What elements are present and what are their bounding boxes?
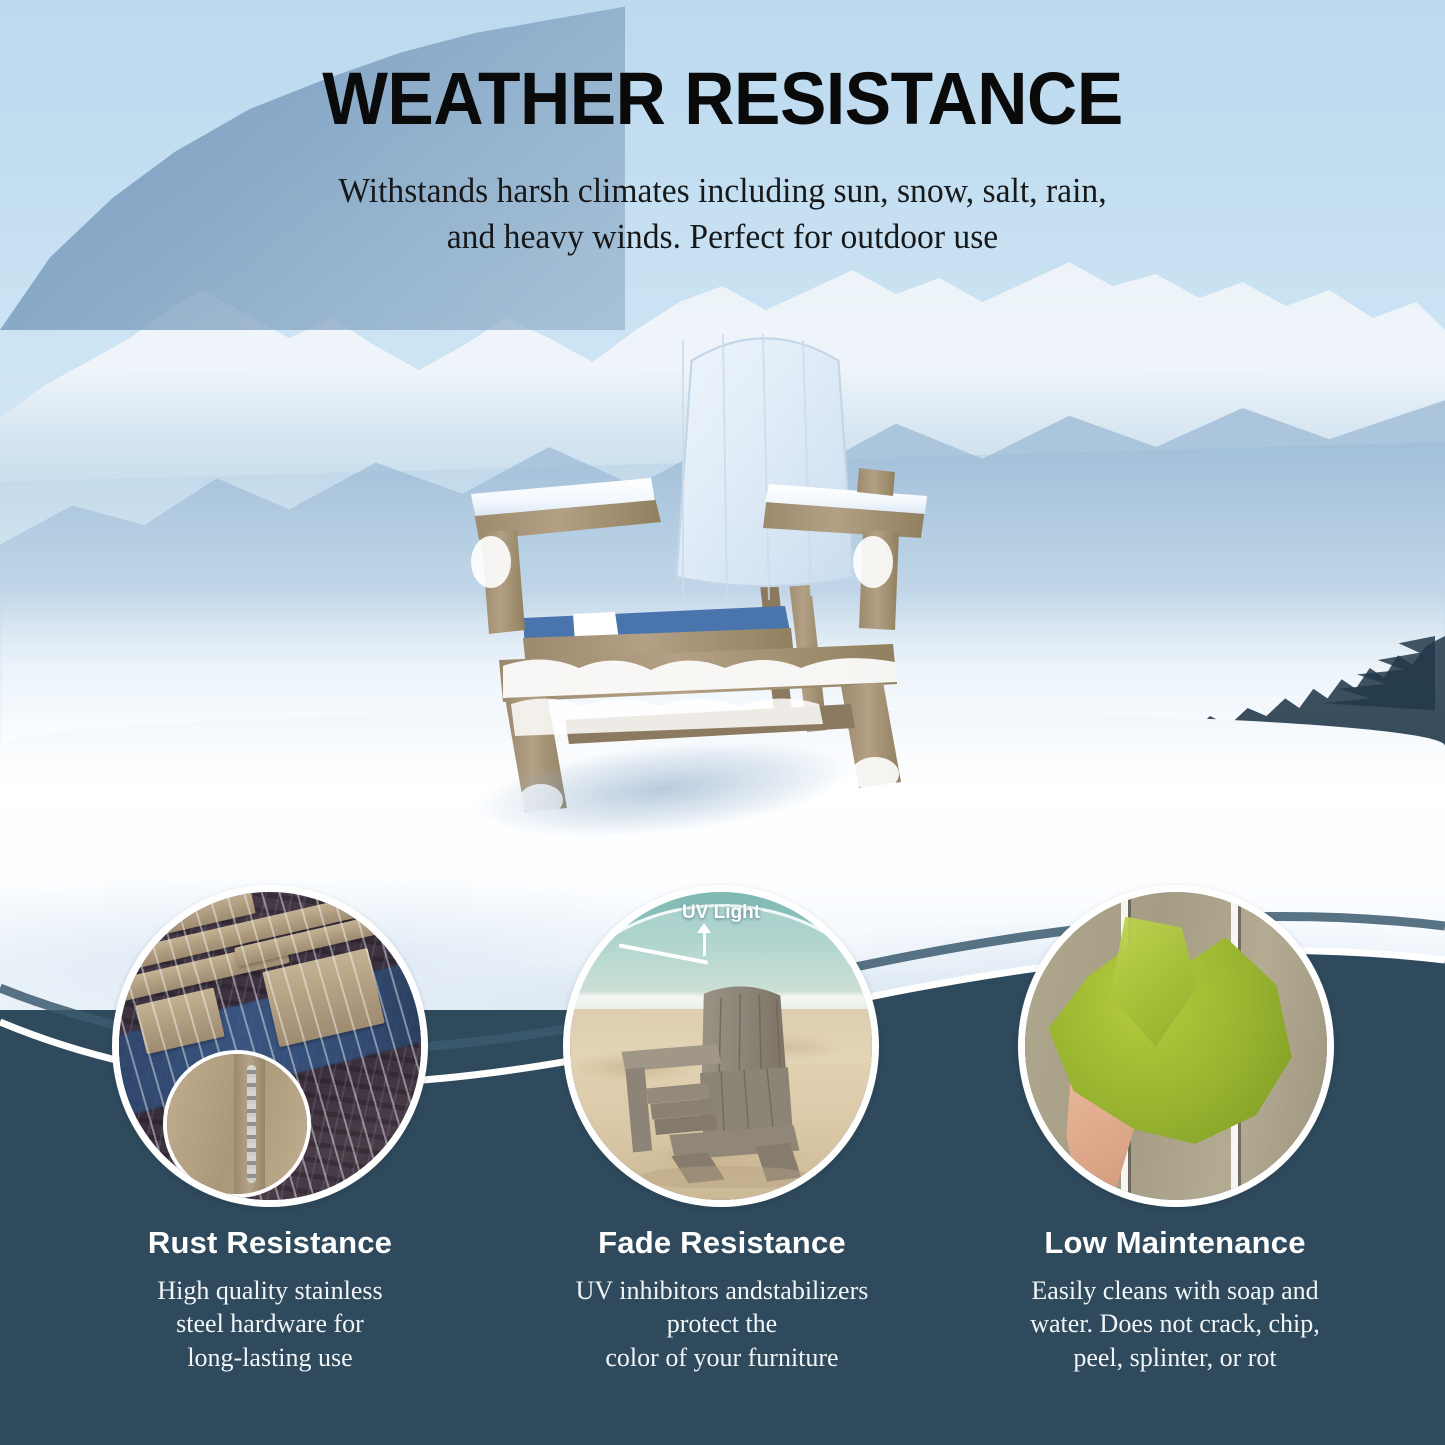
beach-chair-illustration xyxy=(612,984,842,1187)
card-title: Low Maintenance xyxy=(940,1225,1410,1261)
bracket-shape xyxy=(181,1106,231,1149)
page-title: WEATHER RESISTANCE xyxy=(43,62,1401,136)
feature-circles: UV Light xyxy=(0,885,1445,1210)
page-subtitle: Withstands harsh climates including sun,… xyxy=(29,168,1416,260)
hero-adirondack-chair xyxy=(455,300,955,830)
card-body-line-2: protect the xyxy=(487,1307,957,1340)
uv-arrow-icon xyxy=(703,930,706,956)
subtitle-line-1: Withstands harsh climates including sun,… xyxy=(29,168,1416,214)
card-body: High quality stainless steel hardware fo… xyxy=(35,1274,505,1374)
card-body-line-2: steel hardware for xyxy=(35,1307,505,1340)
uv-light-label: UV Light xyxy=(570,902,872,924)
chain-icon xyxy=(247,1065,256,1183)
stainless-chain-hardware-inset xyxy=(163,1050,311,1198)
card-body-line-2: water. Does not crack, chip, xyxy=(940,1307,1410,1340)
header-block: WEATHER RESISTANCE Withstands harsh clim… xyxy=(0,62,1445,260)
feature-image-low-maintenance[interactable] xyxy=(1018,885,1334,1207)
feature-image-rust-resistance[interactable] xyxy=(112,885,428,1207)
rain-on-chair-icon xyxy=(119,892,421,1200)
card-body: Easily cleans with soap and water. Does … xyxy=(940,1274,1410,1374)
card-body-line-1: UV inhibitors andstabilizers xyxy=(487,1274,957,1307)
infographic-root: WEATHER RESISTANCE Withstands harsh clim… xyxy=(0,0,1445,1445)
card-title: Rust Resistance xyxy=(35,1225,505,1261)
card-body-line-3: long-lasting use xyxy=(35,1341,505,1374)
feature-image-fade-resistance[interactable]: UV Light xyxy=(563,885,879,1207)
card-body-line-1: Easily cleans with soap and xyxy=(940,1274,1410,1307)
feature-card-low-maintenance: Low Maintenance Easily cleans with soap … xyxy=(940,1225,1410,1374)
feature-card-fade-resistance: Fade Resistance UV inhibitors andstabili… xyxy=(487,1225,957,1374)
feature-card-rust-resistance: Rust Resistance High quality stainless s… xyxy=(35,1225,505,1374)
cloth-wipe-icon xyxy=(1025,892,1327,1200)
card-title: Fade Resistance xyxy=(487,1225,957,1261)
subtitle-line-2: and heavy winds. Perfect for outdoor use xyxy=(29,214,1416,260)
card-body-line-3: color of your furniture xyxy=(487,1341,957,1374)
card-body-line-1: High quality stainless xyxy=(35,1274,505,1307)
feature-cards: Rust Resistance High quality stainless s… xyxy=(0,1225,1445,1425)
card-body: UV inhibitors andstabilizers protect the… xyxy=(487,1274,957,1374)
beach-chair-uv-icon: UV Light xyxy=(570,892,872,1200)
card-body-line-3: peel, splinter, or rot xyxy=(940,1341,1410,1374)
